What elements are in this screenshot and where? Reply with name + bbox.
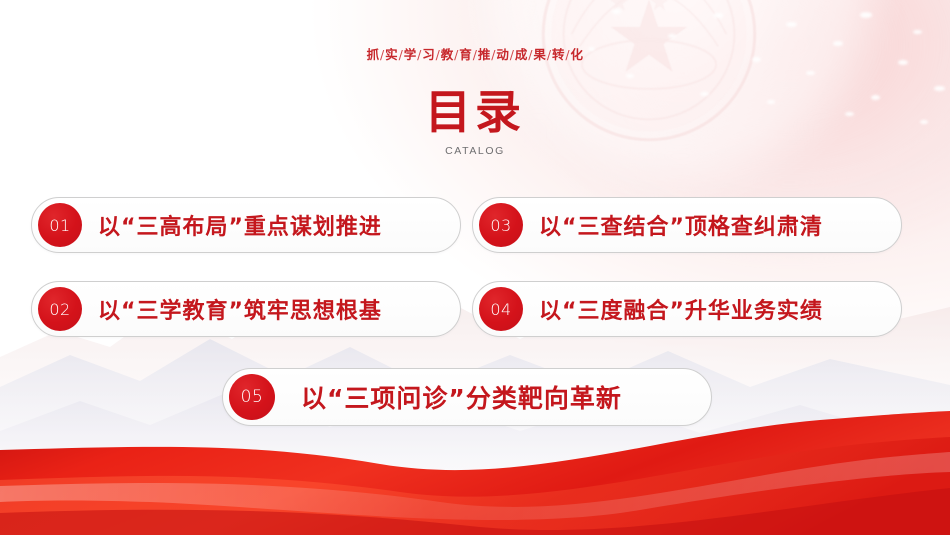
page-subtitle: CATALOG — [0, 146, 950, 157]
tagline-char: 推 — [478, 47, 491, 62]
slide-tagline: 抓/实/学/习/教/育/推/动/成/果/转/化 — [0, 49, 950, 62]
item-label: 以“三查结合”顶格查纠肃清 — [539, 209, 823, 241]
item-number-badge: 03 — [479, 203, 523, 247]
tagline-char: 化 — [570, 47, 583, 62]
tagline-char: 转 — [552, 47, 565, 62]
catalog-item-04[interactable]: 04 以“三度融合”升华业务实绩 — [472, 281, 902, 337]
tagline-char: 抓 — [367, 47, 380, 62]
page-title: 目录 — [0, 88, 950, 138]
slide-content: 抓/实/学/习/教/育/推/动/成/果/转/化 目录 CATALOG 01 以“… — [0, 0, 950, 535]
item-label: 以“三学教育”筑牢思想根基 — [98, 293, 382, 325]
tagline-char: 习 — [422, 47, 435, 62]
tagline-char: 果 — [533, 47, 546, 62]
item-label: 以“三高布局”重点谋划推进 — [98, 209, 382, 241]
tagline-char: 动 — [496, 47, 509, 62]
item-number-badge: 01 — [38, 203, 82, 247]
tagline-char: 教 — [441, 47, 454, 62]
slide-catalog: 抓/实/学/习/教/育/推/动/成/果/转/化 目录 CATALOG 01 以“… — [0, 0, 950, 535]
item-label: 以“三项问诊”分类靶向革新 — [301, 379, 622, 415]
tagline-char: 育 — [459, 47, 472, 62]
catalog-item-02[interactable]: 02 以“三学教育”筑牢思想根基 — [31, 281, 461, 337]
catalog-item-03[interactable]: 03 以“三查结合”顶格查纠肃清 — [472, 197, 902, 253]
catalog-item-05[interactable]: 05 以“三项问诊”分类靶向革新 — [222, 368, 712, 426]
item-number-badge: 05 — [229, 374, 275, 420]
tagline-char: 实 — [385, 47, 398, 62]
item-label: 以“三度融合”升华业务实绩 — [539, 293, 823, 325]
catalog-item-01[interactable]: 01 以“三高布局”重点谋划推进 — [31, 197, 461, 253]
tagline-char: 成 — [515, 47, 528, 62]
item-number-badge: 02 — [38, 287, 82, 331]
item-number-badge: 04 — [479, 287, 523, 331]
tagline-char: 学 — [404, 47, 417, 62]
